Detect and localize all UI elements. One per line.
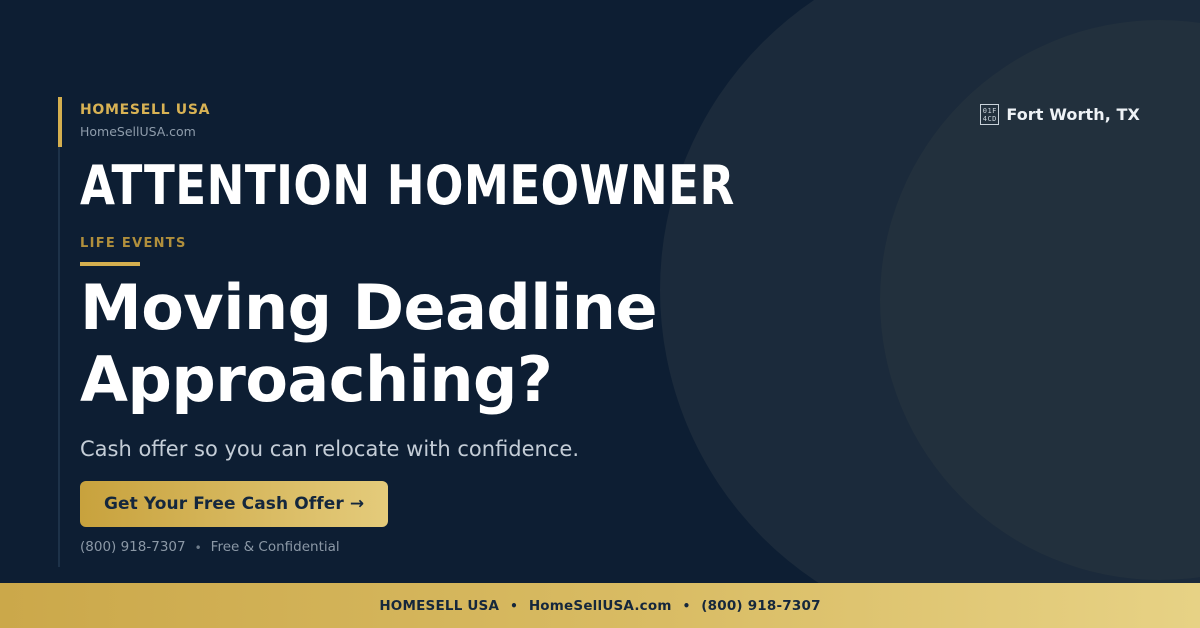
header-row: HOMESELL USA HomeSellUSA.com 01F 4CD For…: [80, 103, 1140, 139]
subtitle: Cash offer so you can relocate with conf…: [80, 436, 579, 463]
trust-phone-number[interactable]: (800) 918-7307: [80, 541, 186, 555]
location-badge: 01F 4CD Fort Worth, TX: [980, 104, 1140, 125]
footer-bar: HOMESELL USA • HomeSellUSA.com • (800) 9…: [0, 583, 1200, 628]
attention-headline: ATTENTION HOMEOWNER: [80, 158, 735, 215]
footer-phone-number[interactable]: (800) 918-7307: [701, 598, 820, 614]
location-label: Fort Worth, TX: [1006, 105, 1140, 124]
ad-creative-canvas: HOMESELL USA HomeSellUSA.com 01F 4CD For…: [0, 0, 1200, 628]
trust-note: Free & Confidential: [211, 541, 340, 555]
content-area: HOMESELL USA HomeSellUSA.com 01F 4CD For…: [80, 0, 1200, 628]
footer-website[interactable]: HomeSellUSA.com: [529, 598, 672, 614]
eyebrow-underline: [80, 262, 140, 266]
eyebrow-block: LIFE EVENTS: [80, 237, 187, 266]
left-vertical-rule: [58, 147, 60, 567]
headline-line-2: Approaching?: [80, 344, 657, 416]
map-pin-icon: 01F 4CD: [980, 104, 999, 125]
footer-separator-dot-1: •: [510, 599, 518, 613]
headline-line-1: Moving Deadline: [80, 272, 657, 344]
page-title: Moving Deadline Approaching?: [80, 272, 657, 416]
get-free-cash-offer-button[interactable]: Get Your Free Cash Offer →: [80, 481, 388, 527]
left-gold-accent-bar: [58, 97, 62, 147]
map-pin-icon-codepoint-high: 01F: [983, 107, 997, 115]
footer-brand-name: HOMESELL USA: [379, 598, 499, 614]
brand-name: HOMESELL USA: [80, 103, 210, 118]
brand-website: HomeSellUSA.com: [80, 125, 210, 139]
footer-separator-dot-2: •: [683, 599, 691, 613]
map-pin-icon-codepoint-low: 4CD: [983, 115, 997, 123]
brand-block: HOMESELL USA HomeSellUSA.com: [80, 103, 210, 139]
trust-separator-dot: •: [195, 542, 202, 554]
eyebrow-label: LIFE EVENTS: [80, 237, 187, 250]
trust-line: (800) 918-7307 • Free & Confidential: [80, 541, 340, 555]
